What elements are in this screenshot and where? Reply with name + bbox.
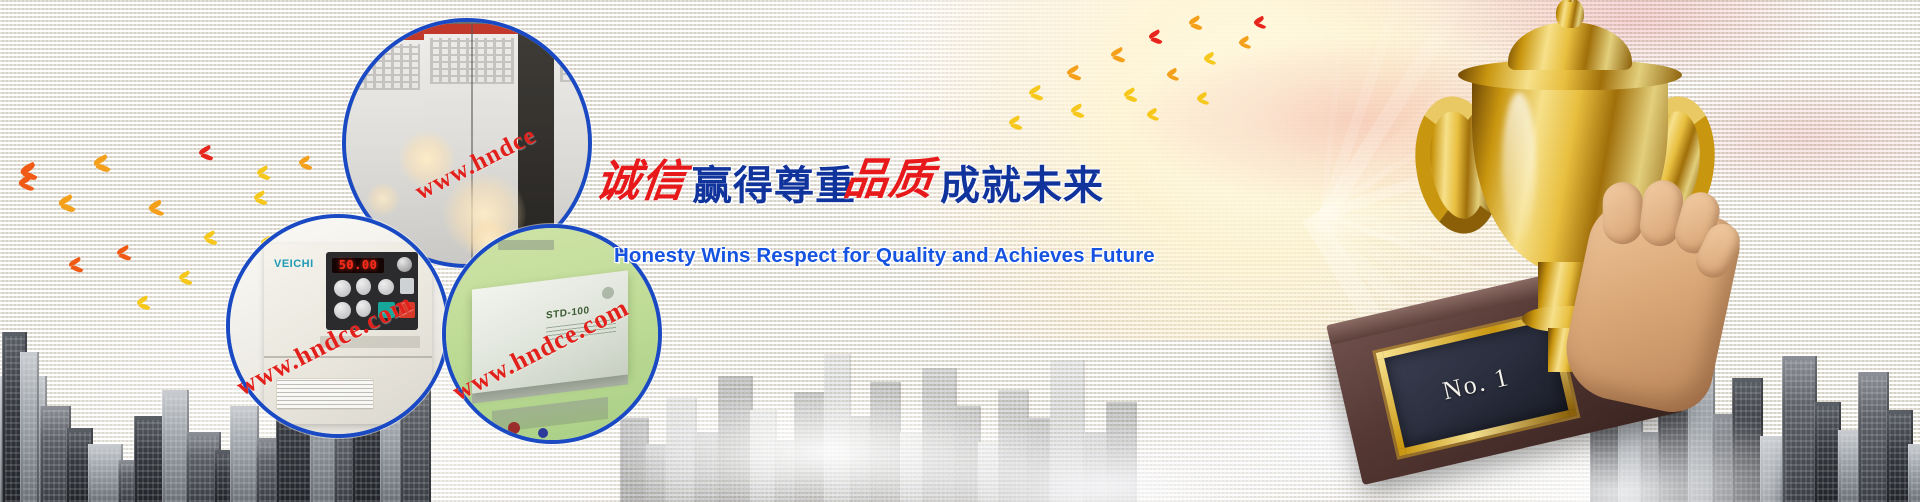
headline-solid-2: 成就未来 — [940, 166, 1104, 206]
headline-solid-1: 赢得尊重 — [692, 166, 856, 206]
headline-block: 诚信 赢得尊重 品质 成就未来 — [596, 158, 1056, 210]
promo-banner: www.hndce VEICHI 50.00 — [0, 0, 1920, 502]
headline-brush-1: 诚信 — [593, 160, 688, 204]
headline-brush-2: 品质 — [841, 158, 936, 202]
inverter-photo: VEICHI 50.00 — [230, 218, 446, 434]
veichi-brand-label: VEICHI — [274, 258, 314, 270]
inverter-led-display: 50.00 — [332, 258, 384, 273]
inverter-warning-label — [276, 378, 374, 410]
product-circle-inverter[interactable]: VEICHI 50.00 — [226, 214, 450, 438]
inverter-control-panel: 50.00 — [326, 252, 418, 330]
inverter-knob — [397, 257, 412, 272]
headline-subtitle: Honesty Wins Respect for Quality and Ach… — [614, 244, 1155, 268]
